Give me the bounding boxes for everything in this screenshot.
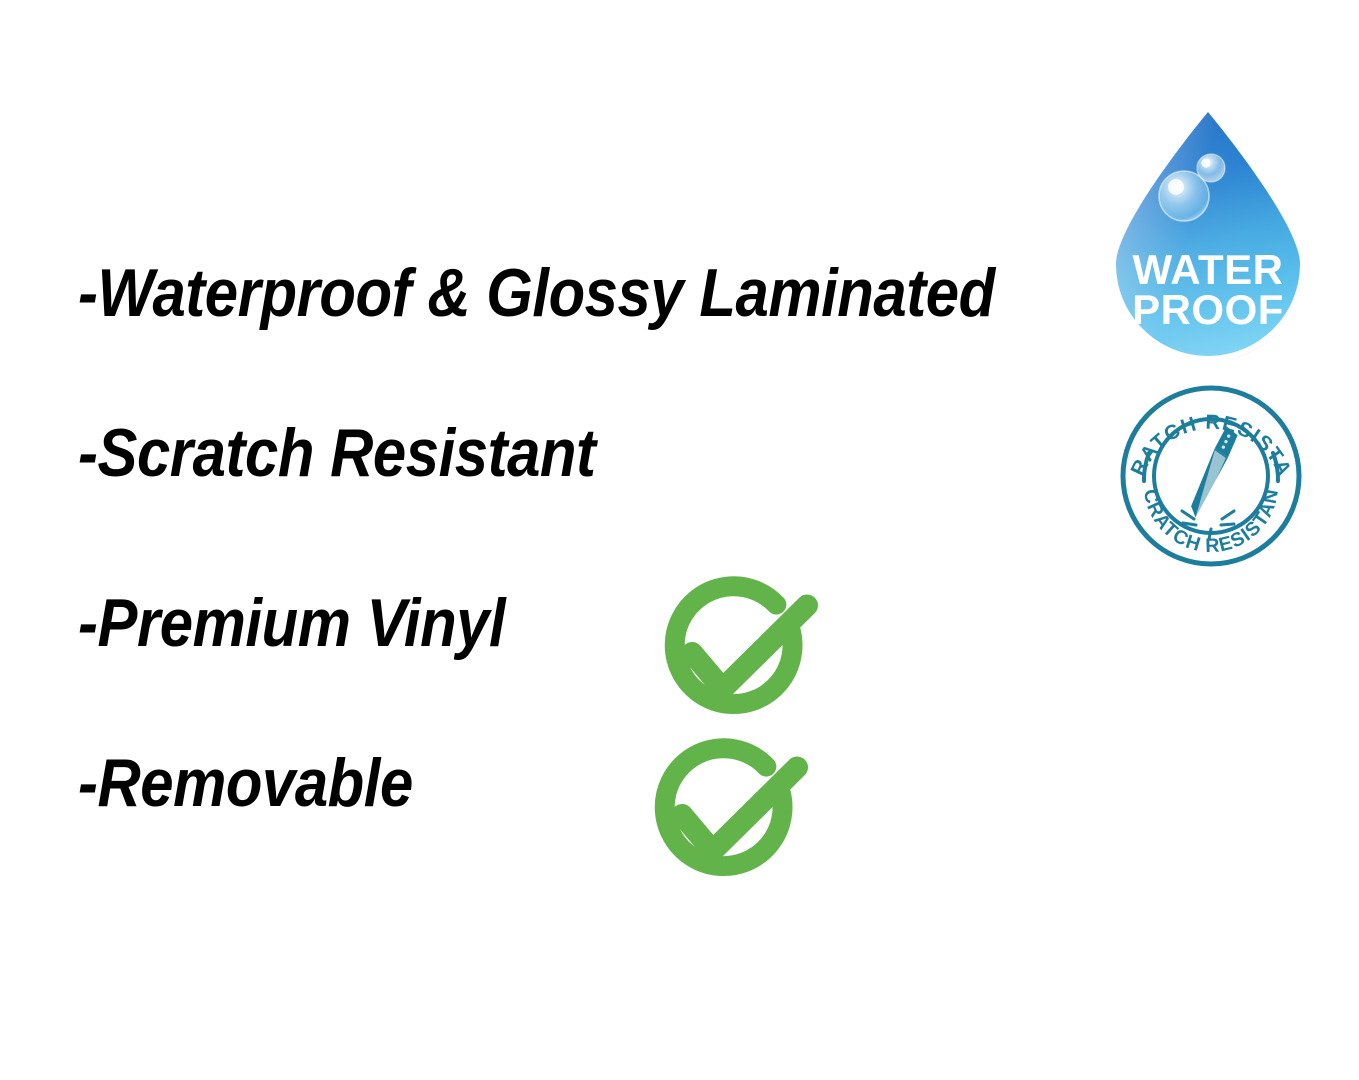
feature-list: -Waterproof & Glossy Laminated -Scratch … bbox=[0, 0, 1100, 1080]
slide-canvas: -Waterproof & Glossy Laminated -Scratch … bbox=[0, 0, 1359, 1080]
feature-label: -Waterproof & Glossy Laminated bbox=[78, 259, 995, 327]
feature-item-waterproof: -Waterproof & Glossy Laminated bbox=[78, 258, 1120, 328]
feature-label: -Removable bbox=[78, 749, 413, 817]
waterproof-droplet-badge: WATER PROOF bbox=[1104, 104, 1312, 368]
feature-item-scratch-resistant: -Scratch Resistant bbox=[78, 418, 666, 488]
check-circle-icon bbox=[628, 718, 818, 908]
scratch-text-top: SCRATCH RESISTANT bbox=[1116, 381, 1296, 480]
scratch-resistant-stamp: SCRATCH RESISTANT SCRATCH RESISTANT bbox=[1116, 381, 1306, 571]
knife-icon bbox=[1188, 423, 1239, 524]
feature-item-removable: -Removable bbox=[78, 748, 458, 818]
feature-label: -Scratch Resistant bbox=[78, 419, 596, 487]
waterproof-line2: PROOF bbox=[1132, 286, 1284, 333]
feature-item-premium-vinyl: -Premium Vinyl bbox=[78, 588, 564, 658]
feature-label: -Premium Vinyl bbox=[78, 589, 505, 657]
